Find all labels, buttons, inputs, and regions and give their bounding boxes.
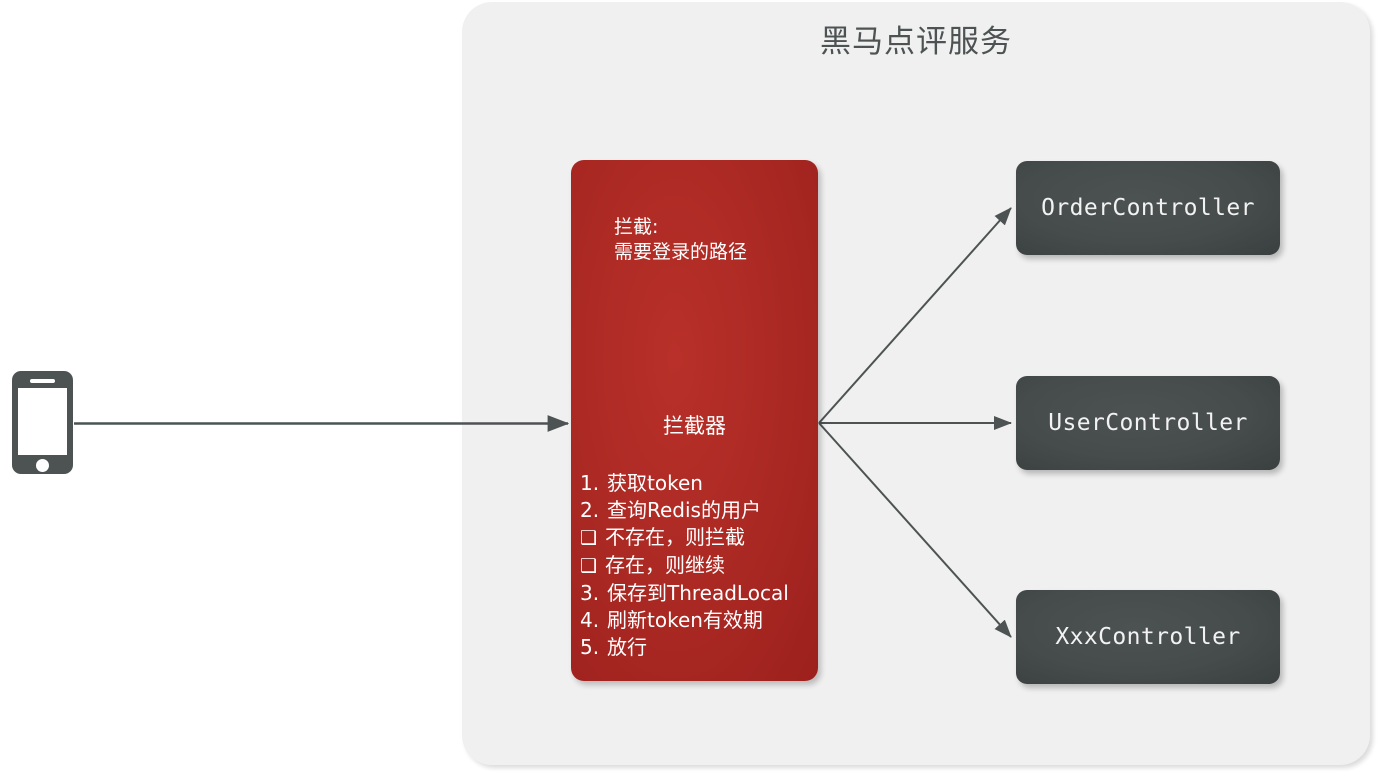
step-text: 放行 [607,634,647,661]
phone-screen [18,388,67,455]
step-marker: 4. [580,607,607,634]
interceptor-label: 拦截器 [571,410,818,440]
step-text: 保存到ThreadLocal [607,580,789,607]
square-bullet-icon: ❑ [580,553,605,580]
square-bullet-icon: ❑ [580,525,605,552]
interceptor-step-list: 1. 获取token 2. 查询Redis的用户 ❑ 不存在，则拦截 ❑ 存在，… [580,470,818,661]
list-item: ❑ 不存在，则拦截 [580,524,818,552]
list-item: 3. 保存到ThreadLocal [580,580,818,607]
list-item: ❑ 存在，则继续 [580,552,818,580]
step-marker: 1. [580,470,607,497]
diagram-canvas: 黑马点评服务 拦截: 需要登录的路径 拦截器 1. 获取token [0,0,1378,773]
step-marker: 2. [580,497,607,524]
phone-home-button-icon [36,459,49,472]
step-text: 查询Redis的用户 [607,497,761,524]
step-text: 获取token [607,470,703,497]
phone-speaker-icon [30,379,55,383]
list-item: 1. 获取token [580,470,818,497]
list-item: 2. 查询Redis的用户 [580,497,818,524]
step-text: 刷新token有效期 [607,607,763,634]
step-marker: 5. [580,634,607,661]
order-controller-box: OrderController [1016,161,1280,255]
step-marker: 3. [580,580,607,607]
list-item: 5. 放行 [580,634,818,661]
step-text: 不存在，则拦截 [605,524,745,551]
interceptor-box: 拦截: 需要登录的路径 拦截器 1. 获取token 2. 查询Redis的用户… [571,160,818,681]
step-text: 存在，则继续 [605,552,725,579]
service-title: 黑马点评服务 [462,16,1370,61]
list-item: 4. 刷新token有效期 [580,607,818,634]
mobile-phone-icon [12,371,73,474]
xxx-controller-box: XxxController [1016,590,1280,684]
interceptor-heading: 拦截: 需要登录的路径 [614,215,747,265]
user-controller-box: UserController [1016,376,1280,470]
